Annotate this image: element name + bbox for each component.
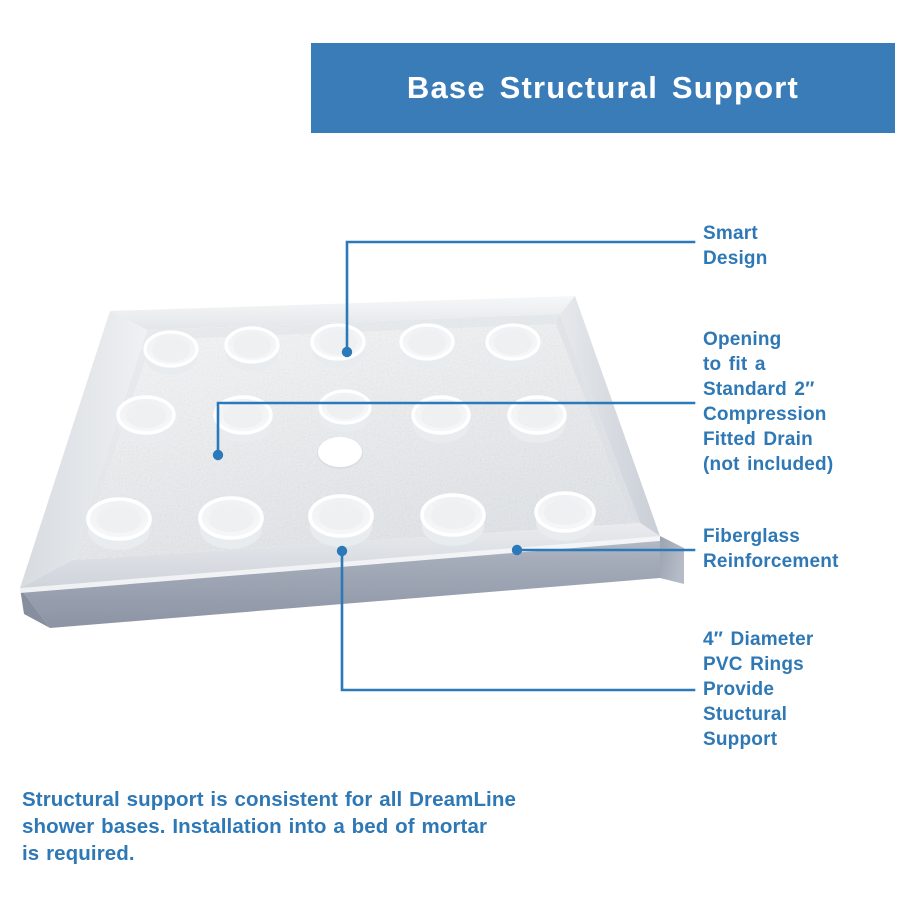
footer-caption: Structural support is consistent for all… xyxy=(22,786,642,867)
leader-dot-opening-drain xyxy=(213,450,223,460)
page-title: Base Structural Support xyxy=(407,70,799,106)
leader-dot-smart-design xyxy=(342,347,352,357)
callout-label-pvc-rings: 4″ Diameter PVC Rings Provide Stuctural … xyxy=(703,627,895,752)
infographic-canvas: Base Structural Support Smart Design Ope… xyxy=(0,0,900,900)
callout-label-smart-design: Smart Design xyxy=(703,221,893,271)
leader-line-opening-drain xyxy=(218,403,694,455)
leader-dot-pvc-rings xyxy=(337,546,347,556)
header-banner: Base Structural Support xyxy=(311,43,895,133)
callout-label-opening-drain: Opening to fit a Standard 2″ Compression… xyxy=(703,327,895,477)
leader-line-smart-design xyxy=(347,242,694,352)
leader-line-pvc-rings xyxy=(342,551,694,690)
leader-dot-fiberglass xyxy=(512,545,522,555)
callout-label-fiberglass-reinforcement: Fiberglass Reinforcement xyxy=(703,524,895,574)
